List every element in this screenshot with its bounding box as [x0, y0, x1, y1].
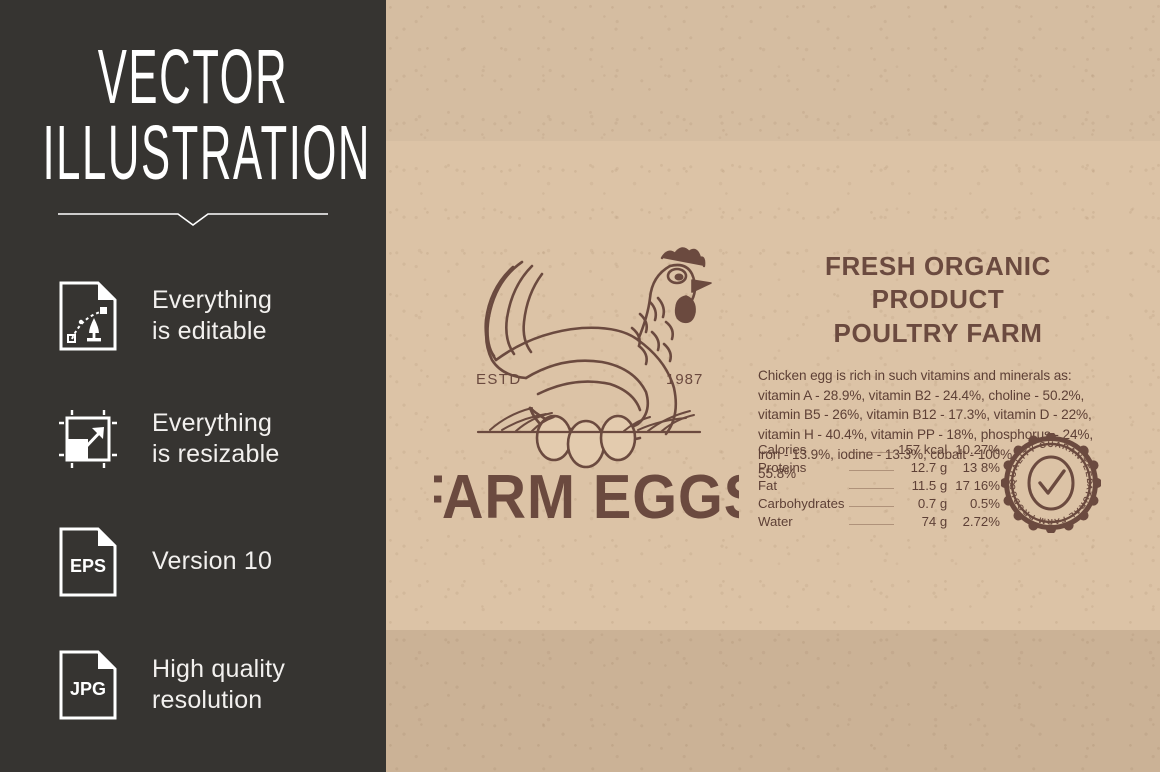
nutrition-percent: 10.27% — [955, 440, 1000, 458]
estd-label: ESTD — [476, 371, 522, 388]
feature-list: Everything is editable Everything is res… — [0, 254, 386, 746]
paper-band-bottom — [386, 630, 1160, 772]
poster-canvas: VECTOR ILLUSTRATION — [0, 0, 1160, 772]
headline-primary: FRESH ORGANIC PRODUCT — [758, 250, 1118, 317]
resize-crop-icon — [58, 403, 118, 475]
nutrition-table: Calories 157 kcal 10.27% Proteins 12.7 g… — [758, 440, 1000, 530]
eps-file-icon: EPS — [58, 526, 118, 598]
nutrition-label: Carbohydrates — [758, 494, 845, 512]
paper-band-top — [386, 0, 1160, 141]
leader-line — [845, 440, 899, 458]
leader-line — [845, 476, 899, 494]
feature-item-resizable: Everything is resizable — [58, 377, 386, 500]
jpg-file-icon: JPG — [58, 649, 118, 721]
leader-line — [947, 512, 955, 530]
year-label: 1987 — [666, 371, 703, 388]
table-row: Calories 157 kcal 10.27% — [758, 440, 1000, 458]
feature-item-jpg-quality: JPG High quality resolution — [58, 623, 386, 746]
leader-line — [947, 440, 955, 458]
divider-with-chevron — [58, 206, 328, 228]
nutrition-area: Calories 157 kcal 10.27% Proteins 12.7 g… — [758, 440, 1118, 530]
nutrition-value: 12.7 g — [898, 458, 947, 476]
leader-line — [845, 494, 899, 512]
feature-label: Version 10 — [152, 546, 272, 577]
svg-text:EPS: EPS — [70, 556, 106, 576]
promo-title-line-2: ILLUSTRATION — [42, 114, 343, 191]
leader-line — [947, 458, 955, 476]
leader-line — [947, 476, 955, 494]
feature-label: Everything is resizable — [152, 408, 279, 469]
feature-item-eps-version: EPS Version 10 — [58, 500, 386, 623]
nutrition-label: Calories — [758, 440, 845, 458]
promo-title-line-1: VECTOR — [42, 38, 343, 115]
artwork-panel: ESTD 1987 FARM EGGS FRESH ORGANIC PRODUC… — [386, 0, 1160, 772]
table-row: Fat 11.5 g 17 16% — [758, 476, 1000, 494]
table-row: Water 74 g 2.72% — [758, 512, 1000, 530]
nutrition-value: 11.5 g — [898, 476, 947, 494]
feature-label: Everything is editable — [152, 285, 272, 346]
nutrition-value: 0.7 g — [898, 494, 947, 512]
svg-text:JPG: JPG — [70, 679, 106, 699]
logo-title: FARM EGGS — [434, 462, 739, 526]
leader-line — [845, 458, 899, 476]
feature-label: High quality resolution — [152, 654, 285, 715]
table-row: Proteins 12.7 g 13 8% — [758, 458, 1000, 476]
promo-sidebar: VECTOR ILLUSTRATION — [0, 0, 386, 772]
nutrition-percent: 17 16% — [955, 476, 1000, 494]
farm-eggs-logo: ESTD 1987 FARM EGGS — [434, 236, 739, 526]
nutrition-percent: 0.5% — [955, 494, 1000, 512]
headline-secondary: POULTRY FARM — [758, 317, 1118, 350]
leader-line — [947, 494, 955, 512]
feature-item-editable: Everything is editable — [58, 254, 386, 377]
nutrition-label: Fat — [758, 476, 845, 494]
nutrition-percent: 2.72% — [955, 512, 1000, 530]
quality-guarantee-seal: QUALITY GUARANTEED NATURAL FARM PRODUCT — [1001, 433, 1101, 533]
pen-tool-document-icon — [58, 280, 118, 352]
promo-title: VECTOR ILLUSTRATION — [0, 0, 386, 170]
nutrition-label: Proteins — [758, 458, 845, 476]
nutrition-value: 74 g — [898, 512, 947, 530]
table-row: Carbohydrates 0.7 g 0.5% — [758, 494, 1000, 512]
nutrition-percent: 13 8% — [955, 458, 1000, 476]
nutrition-value: 157 kcal — [898, 440, 947, 458]
nutrition-label: Water — [758, 512, 845, 530]
leader-line — [845, 512, 899, 530]
